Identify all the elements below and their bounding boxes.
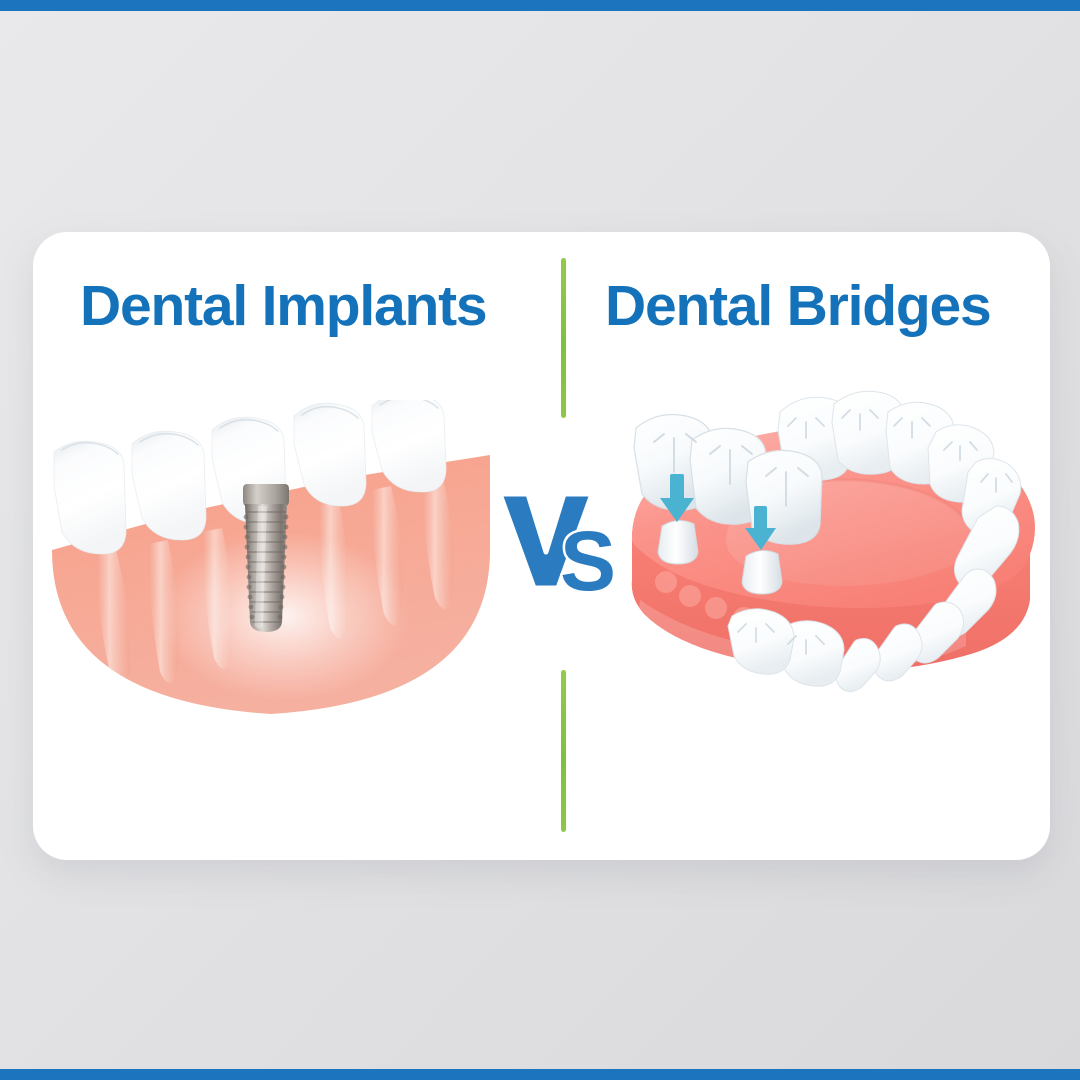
- bottom-accent-bar: [0, 1069, 1080, 1080]
- left-panel-title: Dental Implants: [80, 278, 486, 335]
- versus-badge: S: [498, 486, 626, 594]
- divider-line-top: [561, 258, 566, 418]
- versus-letter-s: S: [560, 514, 616, 594]
- dental-implant-illustration: [46, 400, 496, 720]
- dental-bridge-illustration: [620, 378, 1040, 708]
- right-panel-title: Dental Bridges: [605, 278, 990, 335]
- poster-canvas: Dental Implants Dental Bridges: [0, 0, 1080, 1080]
- top-accent-bar: [0, 0, 1080, 11]
- divider-line-bottom: [561, 670, 566, 832]
- titanium-implant-screw: [243, 484, 289, 632]
